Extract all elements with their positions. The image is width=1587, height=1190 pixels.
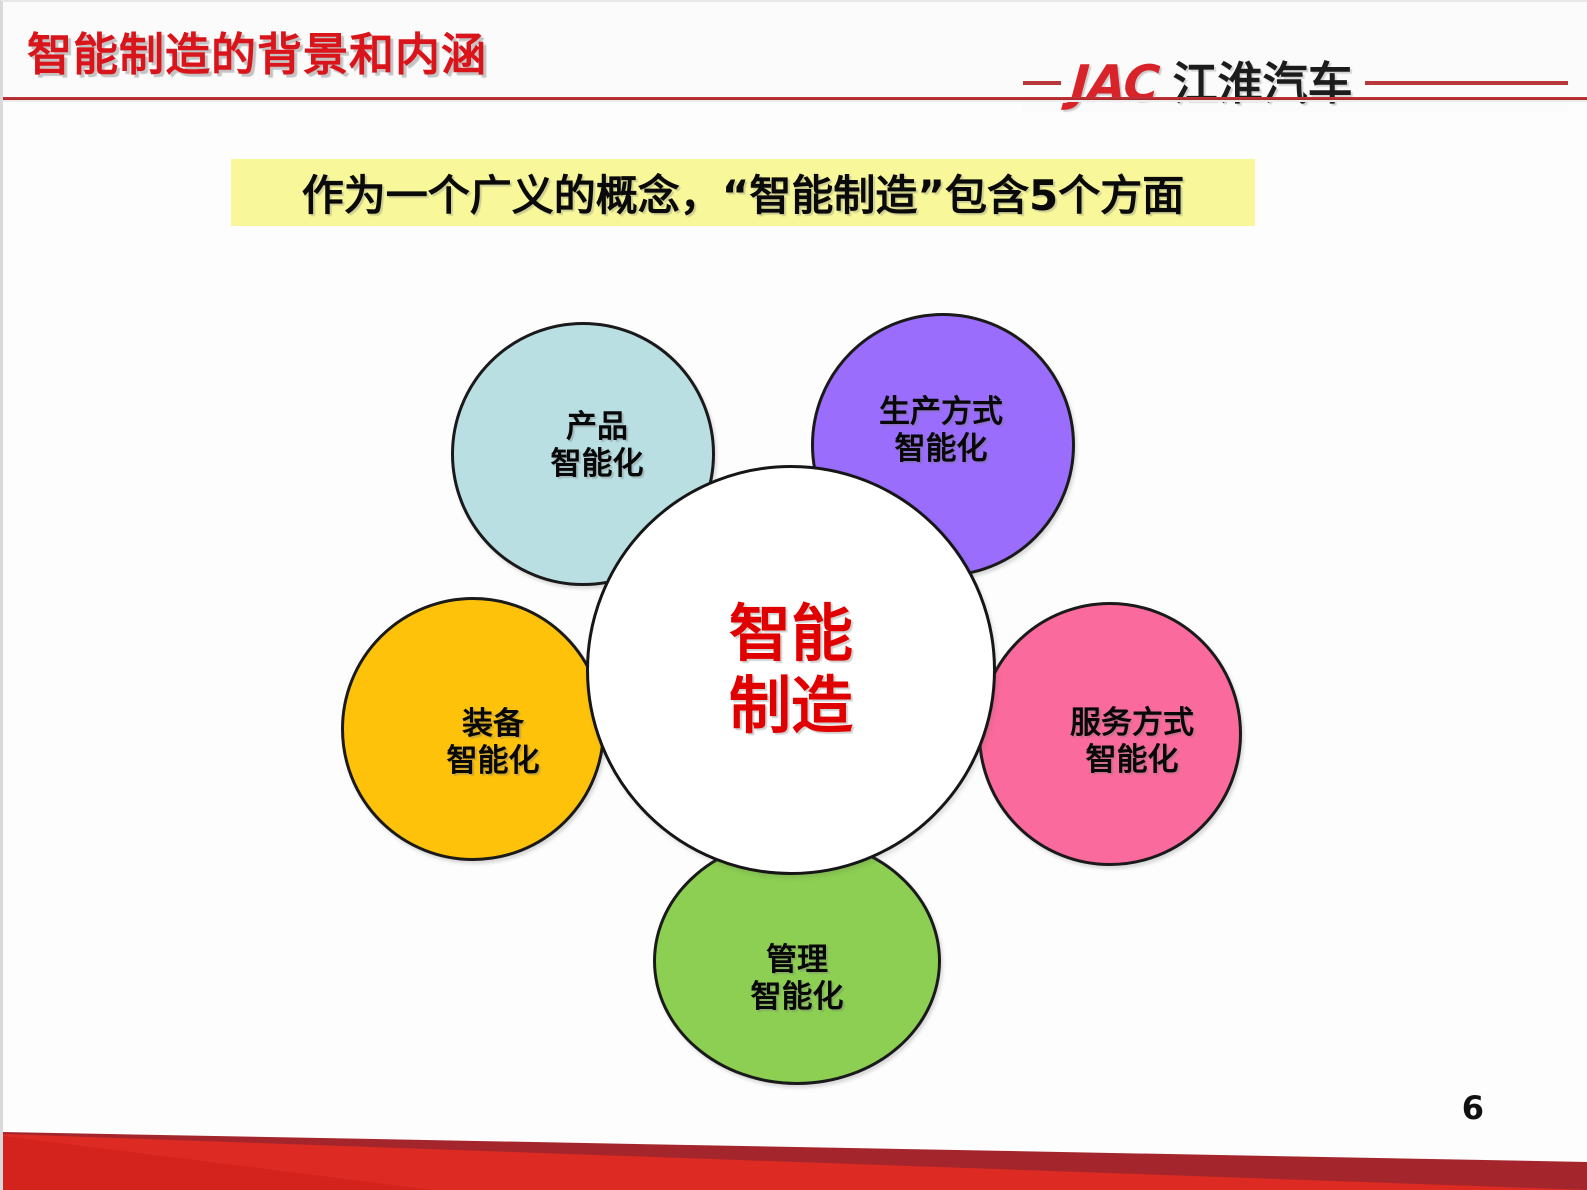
diagram-hub[interactable]: 智能 制造 (586, 465, 996, 875)
highlight-banner: 作为一个广义的概念，“智能制造”包含5个方面 (231, 159, 1255, 226)
slide-header: 智能制造的背景和内涵 JAC 江淮汽车 (3, 2, 1587, 98)
banner-text: 作为一个广义的概念，“智能制造”包含5个方面 (302, 162, 1184, 223)
petal-management-label: 管理 智能化 (751, 942, 844, 1015)
diagram-hub-label: 智能 制造 (729, 598, 853, 742)
petal-equipment[interactable]: 装备 智能化 (341, 597, 605, 861)
slide-canvas: 智能制造的背景和内涵 JAC 江淮汽车 作为一个广义的概念，“智能制造”包含5个… (0, 0, 1587, 1190)
petal-production-label: 生产方式 智能化 (879, 394, 1003, 467)
page-title: 智能制造的背景和内涵 (27, 18, 487, 83)
jac-logo: JAC 江淮汽车 (1023, 54, 1568, 112)
logo-rule-right-icon (1365, 81, 1568, 85)
petal-service-label: 服务方式 智能化 (1070, 705, 1194, 778)
petal-product-label: 产品 智能化 (551, 409, 644, 482)
footer-decoration-icon (3, 1050, 1587, 1190)
petal-service[interactable]: 服务方式 智能化 (978, 602, 1242, 866)
petal-equipment-label: 装备 智能化 (447, 706, 540, 779)
slide-footer (3, 1050, 1587, 1190)
header-divider-shadow (3, 100, 1587, 102)
concept-flower-diagram: 产品 智能化 生产方式 智能化 服务方式 智能化 管理 智能化 装备 智能化 智… (333, 297, 1233, 1077)
page-number: 6 (1462, 1089, 1484, 1127)
logo-rule-left-icon (1023, 81, 1061, 85)
